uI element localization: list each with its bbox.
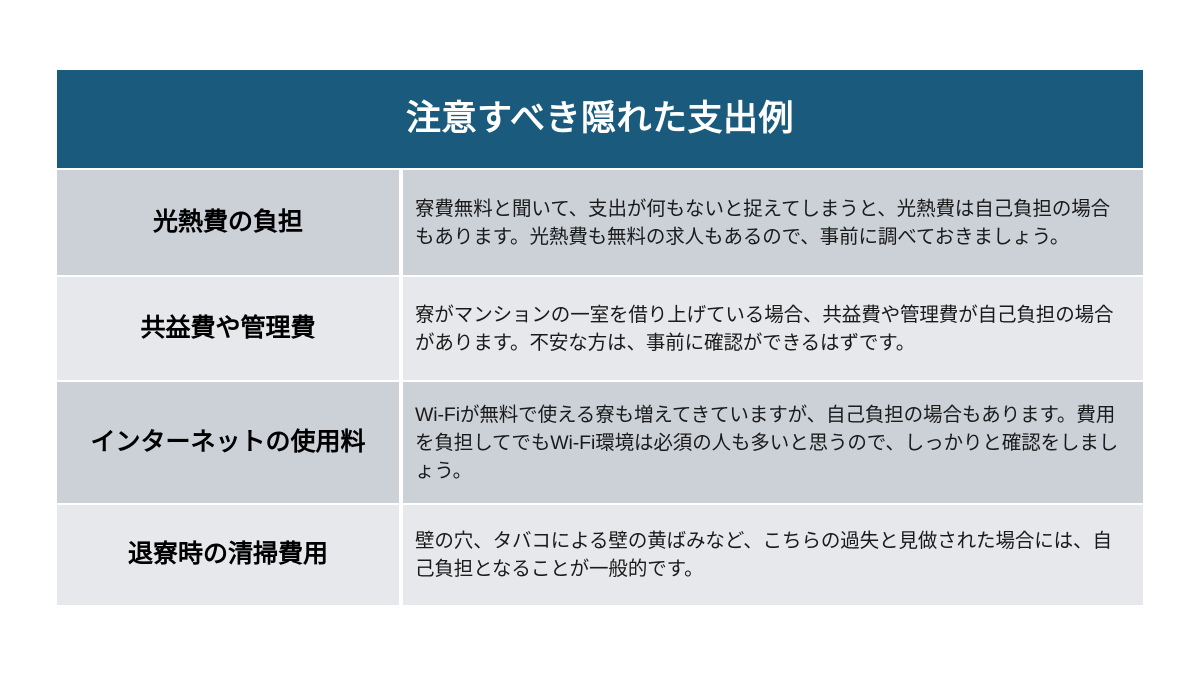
row-description-text: 寮費無料と聞いて、支出が何もないと捉えてしまうと、光熱費は自己負担の場合もありま…	[415, 195, 1129, 251]
table-body: 光熱費の負担 寮費無料と聞いて、支出が何もないと捉えてしまうと、光熱費は自己負担…	[57, 168, 1143, 607]
table-title: 注意すべき隠れた支出例	[406, 100, 794, 139]
table-row: 光熱費の負担 寮費無料と聞いて、支出が何もないと捉えてしまうと、光熱費は自己負担…	[57, 168, 1143, 275]
hidden-expenses-table-container: 注意すべき隠れた支出例 光熱費の負担 寮費無料と聞いて、支出が何もないと捉えてし…	[57, 70, 1143, 607]
row-description-text: 寮がマンションの一室を借り上げている場合、共益費や管理費が自己負担の場合がありま…	[415, 301, 1129, 357]
row-description-cell: 壁の穴、タバコによる壁の黄ばみなど、こちらの過失と見做された場合には、自己負担と…	[403, 505, 1143, 605]
row-label-text: 退寮時の清掃費用	[128, 539, 328, 570]
row-description-cell: 寮がマンションの一室を借り上げている場合、共益費や管理費が自己負担の場合がありま…	[403, 277, 1143, 380]
table-row: インターネットの使用料 Wi-Fiが無料で使える寮も増えてきていますが、自己負担…	[57, 380, 1143, 503]
row-label-cell: 退寮時の清掃費用	[57, 505, 399, 605]
table-row: 共益費や管理費 寮がマンションの一室を借り上げている場合、共益費や管理費が自己負…	[57, 275, 1143, 380]
table-header-band: 注意すべき隠れた支出例	[57, 70, 1143, 168]
row-label-cell: 共益費や管理費	[57, 277, 399, 380]
table-row: 退寮時の清掃費用 壁の穴、タバコによる壁の黄ばみなど、こちらの過失と見做された場…	[57, 503, 1143, 605]
row-description-text: 壁の穴、タバコによる壁の黄ばみなど、こちらの過失と見做された場合には、自己負担と…	[415, 527, 1129, 583]
row-description-cell: 寮費無料と聞いて、支出が何もないと捉えてしまうと、光熱費は自己負担の場合もありま…	[403, 170, 1143, 275]
row-label-text: 光熱費の負担	[153, 207, 303, 238]
row-label-text: インターネットの使用料	[90, 427, 365, 458]
row-description-text: Wi-Fiが無料で使える寮も増えてきていますが、自己負担の場合もあります。費用を…	[415, 401, 1129, 485]
hidden-expenses-table: 注意すべき隠れた支出例 光熱費の負担 寮費無料と聞いて、支出が何もないと捉えてし…	[57, 70, 1143, 607]
row-description-cell: Wi-Fiが無料で使える寮も増えてきていますが、自己負担の場合もあります。費用を…	[403, 382, 1143, 503]
row-label-cell: インターネットの使用料	[57, 382, 399, 503]
row-label-text: 共益費や管理費	[140, 313, 315, 344]
row-label-cell: 光熱費の負担	[57, 170, 399, 275]
